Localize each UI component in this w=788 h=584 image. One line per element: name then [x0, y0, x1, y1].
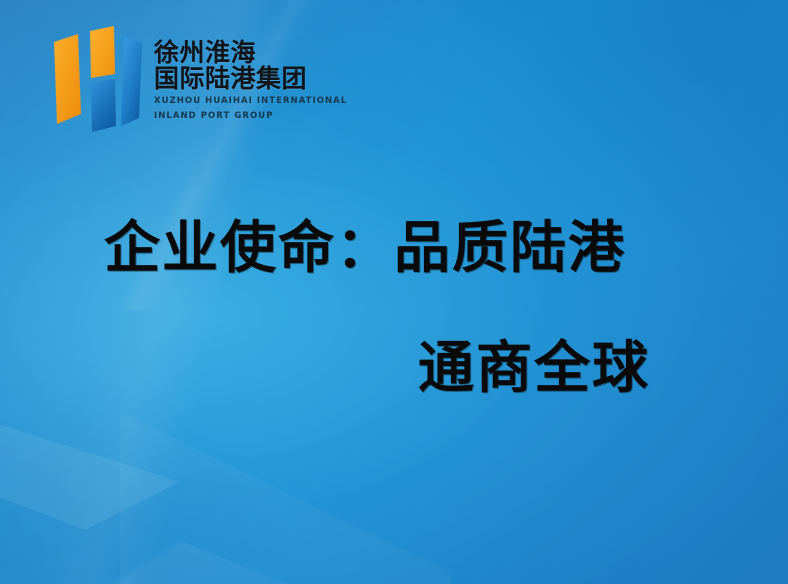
mission-headline: 企业使命：品质陆港 通商全球 [0, 212, 788, 404]
mission-headline-line-1: 企业使命：品质陆港 [0, 212, 788, 284]
logo-company-en-line2: INLAND PORT GROUP [154, 111, 347, 122]
mission-headline-line-2: 通商全球 [0, 332, 788, 404]
logo-company-en-line1: XUZHOU HUAIHAI INTERNATIONAL [154, 96, 347, 107]
background-facet-wedge-center [120, 400, 450, 584]
company-logo: 徐州淮海 国际陆港集团 XUZHOU HUAIHAI INTERNATIONAL… [52, 26, 347, 134]
background-facet-wedge-left [0, 415, 180, 530]
logo-mark-icon [52, 26, 144, 134]
logo-company-cn-line2: 国际陆港集团 [154, 66, 347, 92]
logo-wordmark: 徐州淮海 国际陆港集团 XUZHOU HUAIHAI INTERNATIONAL… [154, 26, 347, 122]
logo-company-cn-line1: 徐州淮海 [154, 40, 347, 66]
slide-canvas: 徐州淮海 国际陆港集团 XUZHOU HUAIHAI INTERNATIONAL… [0, 0, 788, 584]
